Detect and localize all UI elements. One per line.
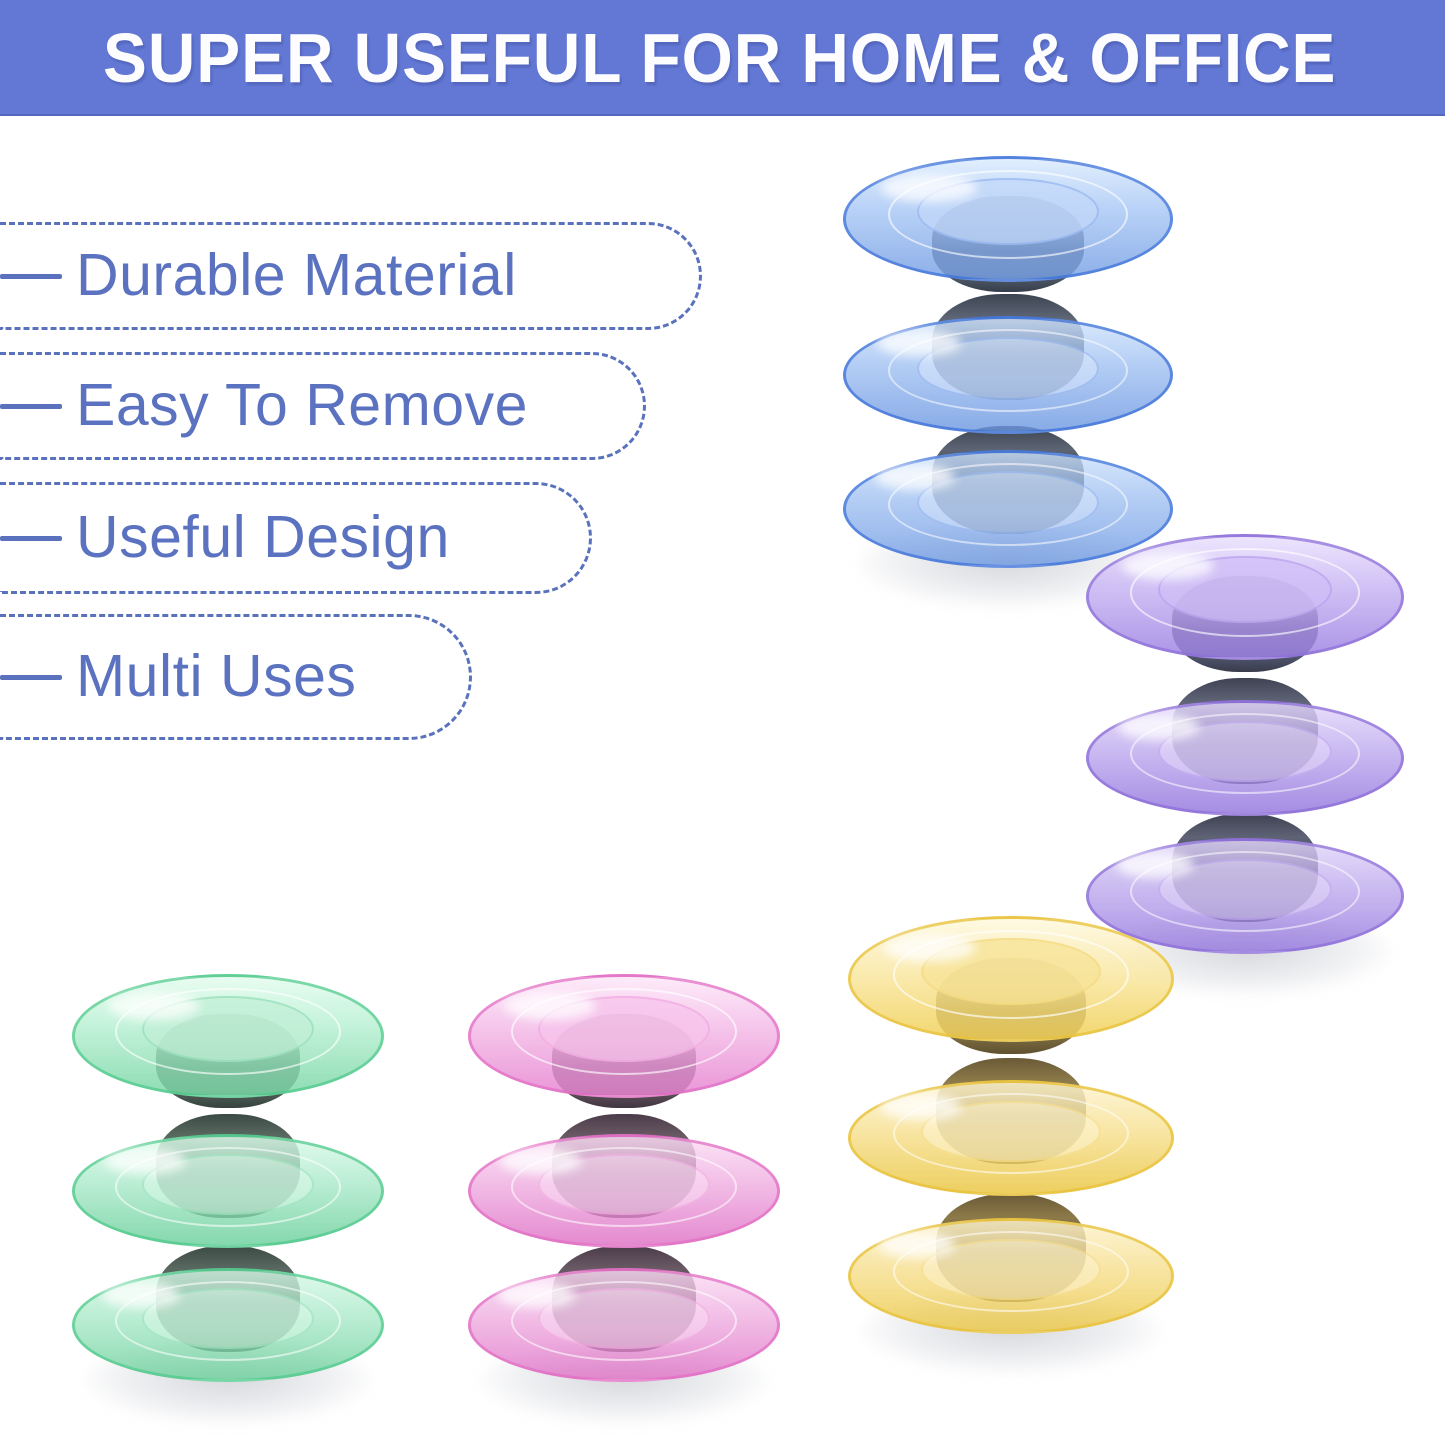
feature-item-multi-uses: Multi Uses <box>0 614 472 740</box>
puck-cap-center <box>142 996 313 1062</box>
feature-label: Durable Material <box>76 245 517 307</box>
feature-item-easy-to-remove: Easy To Remove <box>0 352 646 460</box>
puck-cap <box>843 316 1173 434</box>
puck-cap-center <box>538 1288 709 1348</box>
puck-cap-center <box>917 471 1098 534</box>
product-stack-yellow <box>848 908 1174 1370</box>
puck-cap-center <box>538 1154 709 1214</box>
dash-marker-icon <box>0 274 62 279</box>
puck-cap-center <box>917 178 1098 245</box>
puck-cap <box>843 156 1173 282</box>
puck-cap <box>72 1134 384 1248</box>
puck-cap <box>848 1218 1174 1334</box>
puck-cap <box>72 974 384 1098</box>
product-stack-pink <box>468 968 780 1420</box>
puck-cap-center <box>538 996 709 1062</box>
product-puck <box>468 1108 780 1256</box>
feature-label: Multi Uses <box>76 646 356 708</box>
product-puck <box>848 1188 1174 1338</box>
product-puck <box>468 974 780 1124</box>
product-puck <box>1086 534 1404 686</box>
product-puck <box>843 156 1173 306</box>
product-puck <box>1086 672 1404 822</box>
feature-label: Useful Design <box>76 507 450 569</box>
dash-marker-icon <box>0 536 62 541</box>
header-banner: SUPER USEFUL FOR HOME & OFFICE <box>0 0 1445 116</box>
product-puck <box>468 1240 780 1388</box>
feature-item-useful-design: Useful Design <box>0 482 592 594</box>
product-puck <box>848 1052 1174 1202</box>
product-puck <box>72 1108 384 1256</box>
puck-cap-center <box>1158 859 1333 921</box>
puck-cap <box>1086 700 1404 816</box>
product-puck <box>72 1240 384 1388</box>
product-feature-image: SUPER USEFUL FOR HOME & OFFICE Durable M… <box>0 0 1445 1435</box>
puck-cap-center <box>142 1154 313 1214</box>
puck-cap-center <box>921 1239 1100 1301</box>
puck-cap-center <box>921 1101 1100 1163</box>
dash-marker-icon <box>0 675 62 680</box>
product-stack-green <box>72 968 384 1420</box>
puck-cap <box>468 1268 780 1382</box>
feature-label: Easy To Remove <box>76 375 528 437</box>
product-puck <box>72 974 384 1124</box>
feature-list: Durable Material Easy To Remove Useful D… <box>0 222 760 740</box>
puck-cap-center <box>142 1288 313 1348</box>
product-puck <box>843 288 1173 438</box>
puck-cap <box>848 1080 1174 1196</box>
banner-title: SUPER USEFUL FOR HOME & OFFICE <box>103 16 1269 100</box>
puck-cap-center <box>921 938 1100 1005</box>
puck-cap <box>468 974 780 1098</box>
puck-cap-center <box>1158 721 1333 783</box>
puck-cap <box>848 916 1174 1042</box>
dash-marker-icon <box>0 404 62 409</box>
puck-cap <box>468 1134 780 1248</box>
product-puck <box>848 916 1174 1068</box>
puck-cap <box>72 1268 384 1382</box>
feature-item-durable-material: Durable Material <box>0 222 702 330</box>
puck-cap-center <box>1158 556 1333 623</box>
puck-cap <box>1086 534 1404 660</box>
puck-cap-center <box>917 337 1098 400</box>
